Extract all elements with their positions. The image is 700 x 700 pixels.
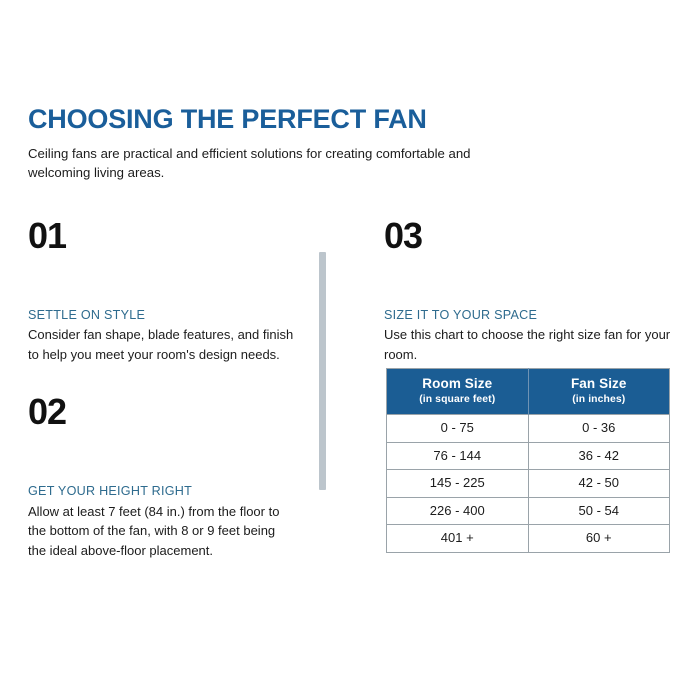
cell-fan-size: 36 - 42 — [528, 442, 670, 470]
header-main-room-size: Room Size — [391, 376, 524, 392]
table-row: 0 - 75 0 - 36 — [387, 415, 670, 443]
header-sub-room-size: (in square feet) — [391, 393, 524, 407]
table-row: 76 - 144 36 - 42 — [387, 442, 670, 470]
step-body-02: Allow at least 7 feet (84 in.) from the … — [28, 502, 296, 561]
infographic-page: CHOOSING THE PERFECT FAN Ceiling fans ar… — [0, 0, 700, 700]
step-block-03: 03 SIZE IT TO YOUR SPACE Use this chart … — [384, 218, 674, 364]
cell-fan-size: 0 - 36 — [528, 415, 670, 443]
table-row: 401 + 60 + — [387, 525, 670, 553]
step-subtitle-03: SIZE IT TO YOUR SPACE — [384, 307, 674, 323]
intro-paragraph: Ceiling fans are practical and efficient… — [28, 144, 478, 182]
step-text-03: SIZE IT TO YOUR SPACE Use this chart to … — [384, 307, 674, 364]
page-title: CHOOSING THE PERFECT FAN — [28, 105, 498, 135]
cell-room-size: 0 - 75 — [387, 415, 529, 443]
cell-fan-size: 60 + — [528, 525, 670, 553]
step-body-03: Use this chart to choose the right size … — [384, 325, 674, 364]
table-header-fan-size: Fan Size (in inches) — [528, 369, 670, 415]
step-body-01: Consider fan shape, blade features, and … — [28, 325, 296, 364]
step-number-02: 02 — [28, 394, 296, 430]
table-row: 145 - 225 42 - 50 — [387, 470, 670, 498]
cell-fan-size: 50 - 54 — [528, 497, 670, 525]
header-block: CHOOSING THE PERFECT FAN Ceiling fans ar… — [28, 105, 498, 182]
step-number-01: 01 — [28, 218, 296, 254]
cell-room-size: 76 - 144 — [387, 442, 529, 470]
cell-room-size: 401 + — [387, 525, 529, 553]
table-head: Room Size (in square feet) Fan Size (in … — [387, 369, 670, 415]
left-column: 01 SETTLE ON STYLE Consider fan shape, b… — [28, 218, 296, 560]
header-sub-fan-size: (in inches) — [533, 393, 666, 407]
cell-room-size: 226 - 400 — [387, 497, 529, 525]
step-subtitle-01: SETTLE ON STYLE — [28, 307, 296, 323]
step-text-01: SETTLE ON STYLE Consider fan shape, blad… — [28, 307, 296, 364]
cell-fan-size: 42 - 50 — [528, 470, 670, 498]
fan-size-table: Room Size (in square feet) Fan Size (in … — [386, 368, 670, 553]
table-body: 0 - 75 0 - 36 76 - 144 36 - 42 145 - 225… — [387, 415, 670, 553]
header-main-fan-size: Fan Size — [533, 376, 666, 392]
step-block-02: 02 GET YOUR HEIGHT RIGHT Allow at least … — [28, 394, 296, 560]
step-number-03: 03 — [384, 218, 674, 254]
right-column: 03 SIZE IT TO YOUR SPACE Use this chart … — [384, 218, 674, 364]
cell-room-size: 145 - 225 — [387, 470, 529, 498]
table-header-row: Room Size (in square feet) Fan Size (in … — [387, 369, 670, 415]
step-subtitle-02: GET YOUR HEIGHT RIGHT — [28, 483, 296, 499]
step-text-02: GET YOUR HEIGHT RIGHT Allow at least 7 f… — [28, 483, 296, 560]
table-row: 226 - 400 50 - 54 — [387, 497, 670, 525]
table-header-room-size: Room Size (in square feet) — [387, 369, 529, 415]
column-divider — [319, 252, 326, 490]
step-block-01: 01 SETTLE ON STYLE Consider fan shape, b… — [28, 218, 296, 364]
